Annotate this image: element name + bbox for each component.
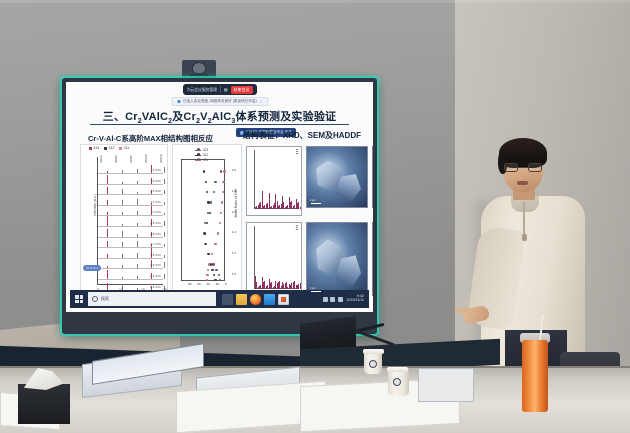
start-button[interactable] (72, 292, 86, 306)
camera-lens-icon (192, 62, 206, 74)
presenter-mouth (517, 181, 528, 185)
data-point (206, 279, 208, 281)
nameplate (418, 368, 474, 402)
vc-toolbar-label[interactable]: 为云会议服务管理 (187, 87, 217, 93)
data-point (205, 181, 207, 183)
clock[interactable]: 9:42 2023/11/11 (347, 295, 364, 303)
xrd-row-label: 0.3 V/Cr (150, 285, 161, 289)
windows-taskbar[interactable]: 搜索 9:42 2023/ (70, 290, 369, 308)
xrd-trace: 1.2 V/Cr (98, 184, 163, 195)
data-point (207, 253, 209, 255)
xrd-tag: Cr:V=1:1 (83, 265, 101, 271)
search-icon (92, 296, 98, 302)
chart-xrd-mini-bottom: ▬▬▬ (246, 222, 302, 296)
haadf-image-top (372, 146, 373, 208)
mail-icon[interactable] (264, 294, 275, 305)
data-point (213, 274, 215, 276)
volume-icon[interactable] (330, 297, 335, 302)
mini-legend: ▬▬▬ (296, 149, 298, 155)
x-tick-label: 20 (216, 282, 219, 286)
tv-screen: 为云会议服务管理 ▦ 结束会议 已加入会议语音, 网络状况良好 (麦克风已开启)… (66, 82, 373, 312)
data-point (219, 279, 221, 281)
data-point (209, 212, 211, 214)
taskbar-pinned-apps (222, 294, 289, 305)
wall-mounted-display: 为云会议服务管理 ▦ 结束会议 已加入会议语音, 网络状况良好 (麦克风已开启)… (62, 78, 377, 334)
data-point (220, 212, 222, 214)
xrd-row-label: 0.5 V/Cr (150, 263, 161, 267)
ceiling-edge (0, 0, 630, 3)
haadf-image-bottom (372, 222, 373, 296)
search-input[interactable]: 搜索 (88, 292, 216, 306)
data-point (218, 274, 220, 276)
browser-icon[interactable] (250, 294, 261, 305)
xrd-row-label: 0.6 V/Cr (150, 253, 161, 257)
mini-legend: ▬▬▬ (296, 225, 298, 231)
xrd-row-label: 0.7 V/Cr (150, 242, 161, 246)
data-point (207, 269, 209, 271)
battery-icon[interactable] (338, 297, 343, 302)
mini-y-axis (254, 150, 255, 209)
data-point (214, 181, 216, 183)
y-tick-label: 2.0 (232, 168, 236, 172)
peak-label: (0008) (130, 156, 133, 164)
peak-label: (0004) (100, 156, 103, 164)
data-point (223, 170, 225, 172)
chart-mass-fraction: 413312211 1.01.21.41.61.82.0806040200 Mo… (172, 144, 242, 296)
scale-bar-label: 2 μm (310, 199, 315, 202)
data-point (207, 201, 209, 203)
data-point (214, 279, 216, 281)
xrd-trace: 0.8 V/Cr (98, 227, 163, 238)
xrd-trace: 1.0 V/Cr (98, 205, 163, 216)
data-point (204, 232, 206, 234)
xrd-row-label: 1.4 V/Cr (150, 168, 161, 172)
legend-item: 312 (195, 153, 208, 157)
sem-image-bottom: 2 μm (306, 222, 368, 296)
data-point (222, 181, 224, 183)
xrd-trace: 1.1 V/Cr (98, 195, 163, 206)
presentation-slide: 为云会议服务管理 ▦ 结束会议 已加入会议语音, 网络状况良好 (麦克风已开启)… (66, 82, 373, 312)
video-conference-notice[interactable]: 已加入会议语音, 网络状况良好 (麦克风已开启) × (171, 97, 268, 106)
xrd-trace: 0.4 V/Cr (98, 269, 163, 280)
xrd-trace: 1.4 V/Cr (98, 163, 163, 174)
data-point (213, 191, 215, 193)
data-point (210, 201, 212, 203)
cup-logo (393, 378, 401, 386)
cup-lid (363, 349, 384, 354)
scale-bar (311, 291, 321, 293)
data-point (217, 232, 219, 234)
slide-subtitle: Cr-V-Al-C系高阶MAX相结构图相反应 (88, 134, 213, 143)
mf-plot-area: 1.01.21.41.61.82.0806040200 (181, 159, 225, 281)
clock-date: 2023/11/11 (347, 299, 364, 303)
end-meeting-button[interactable]: 结束会议 (231, 86, 253, 94)
data-point (215, 269, 217, 271)
task-view-icon[interactable] (222, 294, 233, 305)
xrd-row-label: 1.0 V/Cr (150, 210, 161, 214)
xrd-trace: 0.6 V/Cr (98, 248, 163, 259)
vc-notice-text: 已加入会议语音, 网络状况良好 (麦克风已开启) (183, 99, 257, 104)
file-explorer-icon[interactable] (236, 294, 247, 305)
xrd-trace: 0.7 V/Cr (98, 237, 163, 248)
sem-image-top: 2 μm (306, 146, 368, 208)
data-point (220, 170, 222, 172)
close-icon[interactable]: × (260, 99, 262, 104)
x-tick-label: 0 (225, 282, 227, 286)
xrd-peak-labels: (0004)(0006)(0008)(00010)(00012) (97, 149, 163, 163)
data-point (214, 243, 216, 245)
tray-icons[interactable] (323, 297, 343, 302)
data-point (219, 222, 221, 224)
scale-bar (311, 203, 321, 205)
coffee-cup-front (388, 370, 409, 396)
data-point (221, 201, 223, 203)
cup-lid (387, 367, 408, 372)
y-tick-label: 1.0 (232, 272, 236, 276)
video-conference-toolbar[interactable]: 为云会议服务管理 ▦ 结束会议 (183, 84, 257, 95)
conference-room: 为云会议服务管理 ▦ 结束会议 已加入会议语音, 网络状况良好 (麦克风已开启)… (0, 0, 630, 429)
data-point (208, 263, 210, 265)
xrd-row-label: 1.1 V/Cr (150, 200, 161, 204)
legend-item: 413 (195, 148, 208, 152)
grid-icon[interactable]: ▦ (224, 87, 228, 92)
xrd-row-label: 1.2 V/Cr (150, 189, 161, 193)
xrd-trace: 0.3 V/Cr (98, 280, 163, 291)
windows-logo-icon (75, 295, 83, 303)
title-divider (90, 124, 349, 125)
coffee-cup-back (364, 352, 382, 374)
presenter-zipper (523, 202, 525, 236)
y-tick-label: 1.4 (232, 230, 236, 234)
status-dot-icon (177, 100, 180, 103)
data-point (206, 191, 208, 193)
chart-xrd-mini-top: ▬▬▬ (246, 146, 302, 216)
data-point (211, 253, 213, 255)
xrd-row-label: 0.4 V/Cr (150, 274, 161, 278)
xrd-trace: 0.9 V/Cr (98, 216, 163, 227)
section-label: 结构表征：XRD、SEM及HADDF (243, 130, 361, 141)
mf-y-axis-label: Molar Ratio of V/Cr (234, 176, 238, 230)
vc-divider (220, 86, 221, 93)
data-point (203, 170, 205, 172)
data-point (212, 263, 214, 265)
data-point (205, 243, 207, 245)
orange-juice-cup (522, 340, 548, 412)
tissue-box (18, 384, 70, 424)
network-icon[interactable] (323, 297, 328, 302)
xrd-trace: 1.3 V/Cr (98, 174, 163, 185)
chart-xrd-stack: 413312211 Intensity (a.u.) (0004)(0006)(… (80, 144, 168, 296)
data-point (222, 191, 224, 193)
cup-logo (369, 360, 377, 368)
y-tick-label: 1.2 (232, 251, 236, 255)
x-tick-label: 40 (207, 282, 210, 286)
xrd-row-label: 0.9 V/Cr (150, 221, 161, 225)
presenter-glasses (503, 163, 543, 172)
scale-bar-label: 2 μm (310, 287, 315, 290)
peak-label: (00012) (160, 154, 163, 163)
data-point (211, 269, 213, 271)
presenter-zipper-pull (522, 234, 527, 241)
system-tray: 9:42 2023/11/11 (323, 295, 367, 303)
xrd-trace: 0.5 V/Cr (98, 258, 163, 269)
xrd-row-label: 0.8 V/Cr (150, 232, 161, 236)
powerpoint-icon[interactable] (278, 294, 289, 305)
slide-title: 三、Cr2VAlC2及Cr2V2AlC3体系预测及实验验证 (66, 108, 373, 125)
xrd-row-label: 1.3 V/Cr (150, 179, 161, 183)
x-tick-label: 60 (197, 282, 200, 286)
data-point (206, 222, 208, 224)
data-point (206, 274, 208, 276)
x-tick-label: 80 (188, 282, 191, 286)
peak-label: (00010) (145, 154, 148, 163)
search-placeholder: 搜索 (101, 296, 109, 302)
peak-label: (0006) (115, 156, 118, 164)
